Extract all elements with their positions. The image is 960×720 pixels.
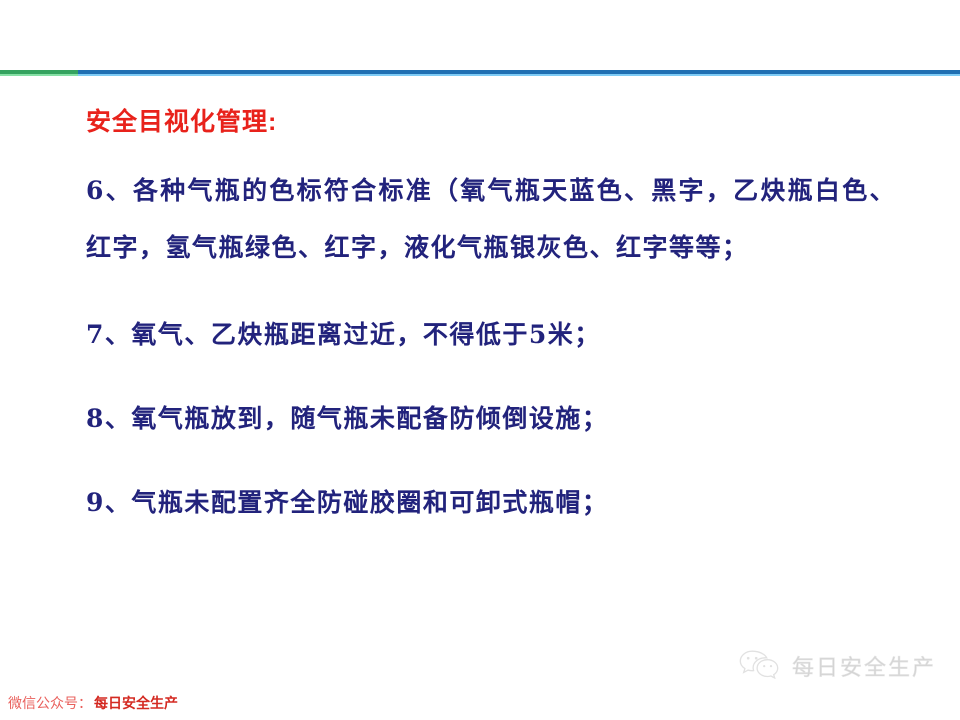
divider-green-light-rule bbox=[0, 74, 78, 76]
wechat-icon bbox=[736, 647, 782, 684]
wechat-account-label: 微信公众号： bbox=[8, 695, 92, 711]
header-divider bbox=[0, 68, 960, 76]
list-item: 6、各种气瓶的色标符合标准（氧气瓶天蓝色、黑字，乙炔瓶白色、红字，氢气瓶绿色、红… bbox=[86, 162, 896, 276]
wechat-account-name: 每日安全生产 bbox=[94, 695, 178, 711]
checklist: 6、各种气瓶的色标符合标准（氧气瓶天蓝色、黑字，乙炔瓶白色、红字，氢气瓶绿色、红… bbox=[86, 162, 896, 531]
list-item: 8、氧气瓶放到，随气瓶未配备防倾倒设施； bbox=[86, 390, 896, 447]
divider-blue-light-rule bbox=[0, 74, 960, 76]
brand-name: 每日安全生产 bbox=[792, 650, 936, 682]
list-item: 9、气瓶未配置齐全防碰胶圈和可卸式瓶帽； bbox=[86, 474, 896, 531]
page-title: 安全目视化管理: bbox=[86, 104, 896, 140]
list-item: 7、氧气、乙炔瓶距离过近，不得低于5米； bbox=[86, 306, 896, 363]
brand-badge: 每日安全生产 bbox=[736, 647, 936, 684]
wechat-account-watermark: 微信公众号：每日安全生产 bbox=[8, 693, 178, 713]
slide-canvas: 安全目视化管理: 6、各种气瓶的色标符合标准（氧气瓶天蓝色、黑字，乙炔瓶白色、红… bbox=[0, 0, 960, 720]
slide-content: 安全目视化管理: 6、各种气瓶的色标符合标准（氧气瓶天蓝色、黑字，乙炔瓶白色、红… bbox=[86, 104, 896, 531]
